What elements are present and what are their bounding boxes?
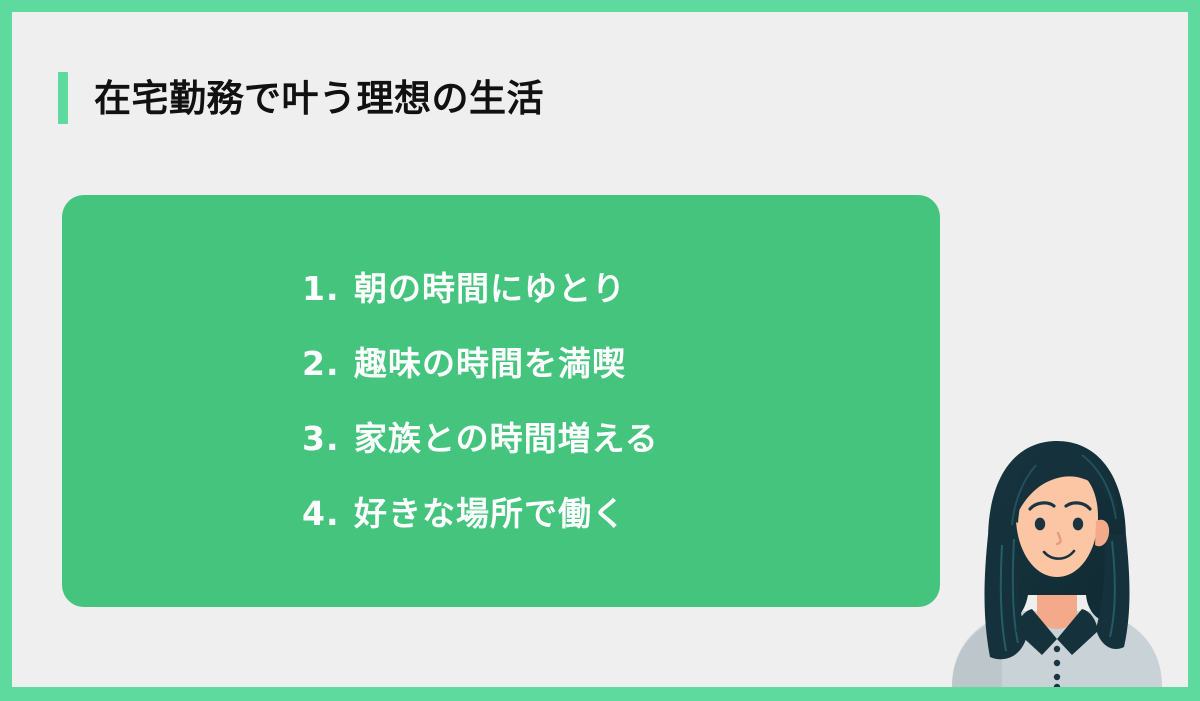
list-item-number: 3.: [302, 401, 354, 476]
list-item-label: 趣味の時間を満喫: [354, 326, 626, 401]
list-item: 1. 朝の時間にゆとり: [302, 251, 940, 326]
shirt-button: [1054, 660, 1060, 666]
page-title: 在宅勤務で叶う理想の生活: [94, 80, 544, 117]
shirt-button: [1054, 646, 1060, 652]
list-item-label: 好きな場所で働く: [354, 476, 626, 551]
list-item-label: 朝の時間にゆとり: [354, 251, 626, 326]
list-item-number: 2.: [302, 326, 354, 401]
list-item-number: 4.: [302, 476, 354, 551]
eye-right: [1073, 518, 1083, 531]
list-item: 2. 趣味の時間を満喫: [302, 326, 940, 401]
benefits-card: 1. 朝の時間にゆとり 2. 趣味の時間を満喫 3. 家族との時間増える 4. …: [62, 195, 940, 607]
list-item-number: 1.: [302, 251, 354, 326]
title-accent-bar: [58, 72, 68, 124]
list-item-label: 家族との時間増える: [354, 401, 659, 476]
list-item: 3. 家族との時間増える: [302, 401, 940, 476]
eye-left: [1035, 518, 1045, 531]
slide-canvas: 在宅勤務で叶う理想の生活 1. 朝の時間にゆとり 2. 趣味の時間を満喫 3. …: [12, 12, 1188, 687]
benefits-list: 1. 朝の時間にゆとり 2. 趣味の時間を満喫 3. 家族との時間増える 4. …: [62, 195, 940, 607]
list-item: 4. 好きな場所で働く: [302, 476, 940, 551]
shirt-button: [1054, 674, 1060, 680]
slide-header: 在宅勤務で叶う理想の生活: [58, 70, 544, 126]
woman-avatar-illustration: [944, 425, 1170, 687]
slide-frame: 在宅勤務で叶う理想の生活 1. 朝の時間にゆとり 2. 趣味の時間を満喫 3. …: [0, 0, 1200, 701]
